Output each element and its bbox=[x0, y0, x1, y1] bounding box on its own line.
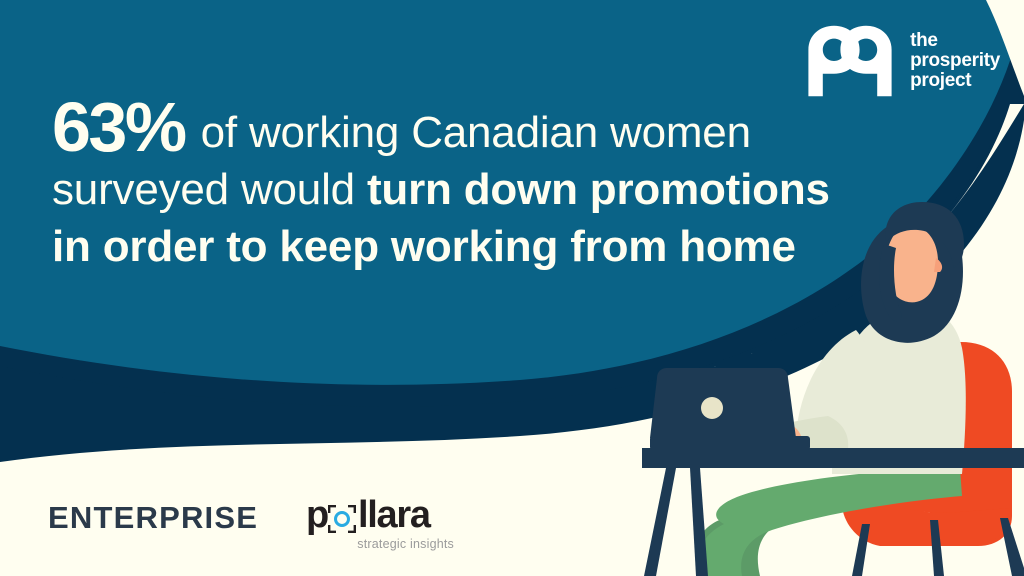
enterprise-logo: ENTERPRISE bbox=[48, 500, 258, 536]
focus-target-icon bbox=[328, 505, 356, 533]
laptop-base bbox=[650, 436, 810, 450]
pollara-tagline: strategic insights bbox=[306, 537, 456, 551]
desk-leg-right bbox=[690, 468, 708, 576]
pollara-wordmark: p llara bbox=[306, 496, 456, 536]
laptop-lid bbox=[650, 368, 796, 438]
headline: 63% of working Canadian women surveyed w… bbox=[52, 96, 862, 276]
logo-line-the: the bbox=[910, 31, 1000, 51]
chair-leg-right bbox=[1000, 518, 1024, 576]
laptop-logo-dot bbox=[701, 397, 723, 419]
desk-top bbox=[642, 448, 1024, 468]
pq-monogram-icon bbox=[802, 22, 898, 100]
pollara-logo: p llara strategic insights bbox=[306, 496, 456, 551]
logo-line-prosperity: prosperity bbox=[910, 51, 1000, 71]
pollara-word-pre: p bbox=[306, 496, 328, 534]
headline-stat: 63% bbox=[52, 88, 185, 166]
prosperity-project-logo: the prosperity project bbox=[802, 22, 1000, 100]
infographic-canvas: 63% of working Canadian women surveyed w… bbox=[0, 0, 1024, 576]
pollara-word-post: llara bbox=[358, 496, 430, 534]
desk-leg-left bbox=[644, 468, 676, 576]
logo-line-project: project bbox=[910, 71, 1000, 91]
prosperity-project-wordmark: the prosperity project bbox=[910, 31, 1000, 91]
